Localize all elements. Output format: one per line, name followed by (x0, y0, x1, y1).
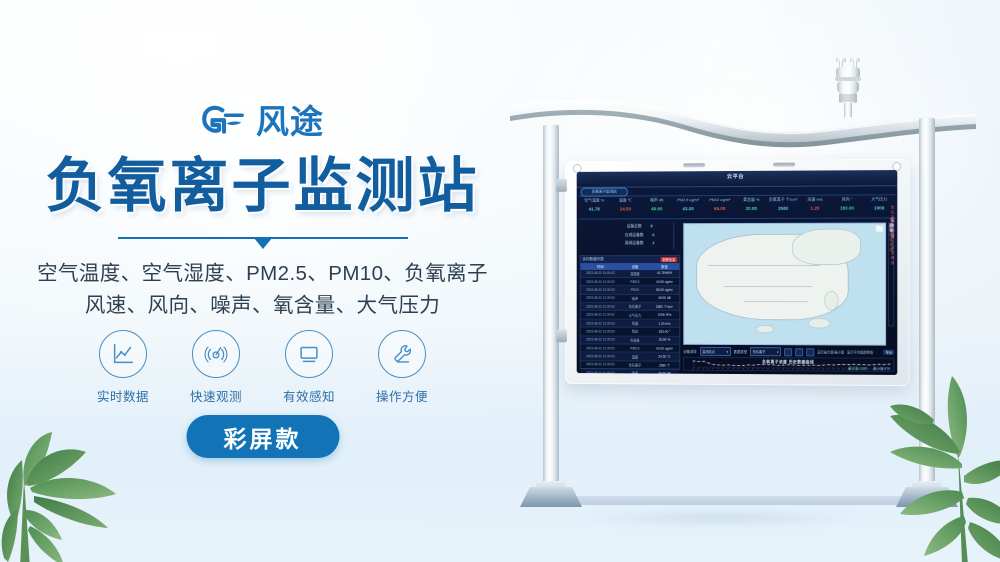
metric-value: 43.00 (672, 204, 703, 213)
stat-row: 离线设备数 2 (606, 239, 673, 248)
metric-name: 风向 ° (831, 195, 863, 203)
subtitle-line-2: 风速、风向、噪声、氧含量、大气压力 (0, 290, 525, 322)
table-header-cell: 时间 (581, 264, 621, 269)
table-cell: 2023-08-21 11:00:02 (581, 346, 621, 350)
alarm-cell: 负氧离子数值低于设定阈值 (891, 204, 894, 265)
stat-value: 8 (651, 222, 653, 230)
metric-name: PM2.5 ug/m³ (672, 196, 703, 204)
metric-card: PM10 ug/m³ 65.00 (704, 196, 736, 218)
base-plate-left (520, 487, 582, 507)
table-cell: 2023-08-21 11:00:02 (581, 280, 621, 284)
alarm-row: 1 负氧离子监测站 负氧离子数值低于设定阈值 (889, 231, 893, 238)
table-row[interactable]: 2023-08-21 11:00:02大气压力1006 hPa (581, 311, 680, 320)
metric-name: 温度 ℃ (610, 196, 641, 204)
metric-name: PM10 ug/m³ (704, 196, 736, 204)
table-cell: 43.00 ug/m³ (650, 346, 680, 350)
table-cell: 2023-08-21 11:00:02 (581, 271, 621, 275)
table-cell: 65.00 ug/m³ (650, 288, 680, 292)
table-cell: 2580 个/cm³ (650, 304, 680, 309)
table-cell: 2023-08-21 11:00:02 (581, 321, 621, 325)
chevron-down-icon: ▾ (726, 349, 728, 353)
stat-label: 设备总数 (627, 222, 642, 230)
realtime-data-table[interactable]: 实时数据列表 报警信息 时间 设备 数值 2023-08-21 11:00:02… (580, 255, 681, 370)
table-cell: 48.60 dB (650, 371, 680, 375)
metric-card: 负氧离子 个/cm³ 2580 (767, 196, 799, 218)
control-label-datatype: 数据类型 (734, 349, 748, 354)
table-cell: 1.20 m/s (650, 321, 680, 325)
hero-subtitle: 空气温度、空气湿度、PM2.5、PM10、负氧离子 风速、风向、噪声、氧含量、大… (0, 258, 525, 322)
table-row[interactable]: 2023-08-21 11:00:02噪声48.60 dB (581, 369, 680, 375)
table-row[interactable]: 2023-08-21 11:00:02温湿度41.78%RH (581, 270, 680, 278)
display-screen[interactable]: 云平台 负氧离子监测站 空气湿度 % 41.78 温度 ℃ 24.50 (577, 170, 898, 375)
table-cell: 20.80 % (650, 338, 680, 342)
table-cell: 2023-08-21 11:00:02 (581, 354, 621, 358)
fengtu-g-logo-icon (201, 104, 247, 138)
brand-logo-text: 风途 (256, 105, 324, 138)
dashboard: 云平台 负氧离子监测站 空气湿度 % 41.78 温度 ℃ 24.50 (577, 170, 898, 375)
wrench-icon (378, 330, 426, 378)
metric-value: 24.50 (610, 204, 641, 213)
device-select[interactable]: 监测站点 ▾ (700, 347, 731, 356)
metric-value: 20.80 (736, 204, 768, 213)
checkbox-average[interactable]: 显示平均值趋势线 (847, 349, 873, 354)
feature-label: 有效感知 (278, 386, 340, 405)
export-button[interactable]: 导出 (883, 349, 894, 355)
stat-label: 离线设备数 (625, 239, 644, 247)
table-header-cell: 设备 (620, 264, 649, 269)
table-cell: 2023-08-21 11:00:02 (581, 313, 621, 317)
table-cell: 风速 (620, 321, 649, 326)
table-cell: 48.60 dB (650, 296, 680, 300)
metric-name: 噪声 dB (641, 196, 672, 204)
metric-name: 大气压力 (863, 195, 895, 203)
chart-control-bar: 设备选择 监测站点 ▾ 数据类型 负氧离子 ▾ 显示最大值 (683, 347, 894, 357)
stat-label: 在线设备数 (625, 231, 644, 239)
table-header-row: 时间 设备 数值 (581, 263, 680, 269)
metric-card: 噪声 dB 48.60 (641, 196, 672, 218)
metric-card: 氧含量 % 20.80 (736, 196, 768, 218)
map-landmass-north (792, 228, 861, 264)
metric-divider-bottom (579, 217, 896, 219)
table-cell: 2580 个 (650, 363, 680, 368)
chart-plot (684, 358, 893, 371)
cta-button[interactable]: 彩屏款 (186, 415, 339, 458)
chevron-down-icon: ▾ (777, 350, 779, 354)
table-caption: 实时数据列表 (583, 257, 604, 262)
chart-tool-button-3[interactable] (806, 348, 814, 356)
table-row[interactable]: 2023-08-21 11:00:02负氧离子2580 个/cm³ (581, 303, 680, 312)
map-border-line-3 (744, 301, 808, 302)
table-cell: 温度 (620, 354, 649, 359)
display-cabinet: 云平台 负氧离子监测站 空气湿度 % 41.78 温度 ℃ 24.50 (565, 159, 910, 386)
metric-name: 氧含量 % (736, 196, 768, 204)
feature-label: 实时数据 (92, 386, 154, 405)
table-body: 2023-08-21 11:00:02温湿度41.78%RH2023-08-21… (581, 270, 680, 375)
hero-text-column: 风途 负氧离子监测站 空气温度、空气湿度、PM2.5、PM10、负氧离子 风速、… (0, 0, 525, 562)
table-row[interactable]: 2023-08-21 11:00:02PM1065.00 ug/m³ (581, 286, 680, 294)
base-crossbar (548, 496, 918, 505)
chart-tool-button-1[interactable] (784, 348, 792, 356)
line-chart-icon (99, 330, 147, 378)
cabinet-hinge-top (556, 179, 567, 192)
metric-name: 风速 m/s (799, 196, 831, 204)
map-border-line-2 (724, 286, 812, 287)
table-cell: 183.00 ° (650, 330, 680, 334)
metric-name: 负氧离子 个/cm³ (767, 196, 799, 204)
cabinet-hinge-bottom (556, 329, 567, 342)
chart-tool-button-2[interactable] (795, 348, 803, 356)
stat-row: 设备总数 8 (606, 222, 673, 231)
metric-name: 空气湿度 % (579, 197, 610, 205)
brand-logo: 风途 (0, 97, 525, 145)
table-cell: 43.00 ug/m³ (650, 280, 680, 284)
feature-list: 实时数据 快速观测 (0, 330, 525, 405)
ultrasonic-weather-sensor-icon (828, 55, 868, 117)
stat-value: 6 (652, 231, 654, 239)
table-cell: PM2.5 (620, 346, 649, 350)
table-cell: 负氧离子 (620, 362, 649, 367)
feature-label: 操作方便 (371, 386, 433, 405)
metric-value: 2580 (767, 204, 799, 213)
table-cell: 温湿度 (620, 271, 649, 276)
table-cell: 41.78%RH (650, 271, 680, 275)
table-cell: 2023-08-21 11:00:02 (581, 338, 621, 342)
cabinet-vent-left (683, 163, 705, 167)
feature-label: 快速观测 (185, 386, 247, 405)
metric-card: 空气湿度 % 41.78 (579, 197, 610, 219)
table-cell: 噪声 (620, 371, 649, 375)
table-cell: 噪声 (620, 296, 649, 301)
table-cell: 1006 hPa (650, 313, 680, 317)
monitor-icon (285, 330, 333, 378)
table-header-cell: 数值 (650, 264, 680, 269)
title-divider (0, 237, 525, 253)
feature-item-easy-operation[interactable]: 操作方便 (371, 330, 433, 405)
feature-item-realtime-data[interactable]: 实时数据 (92, 330, 154, 405)
table-cell: 大气压力 (620, 312, 649, 317)
stat-row: 在线设备数 6 (606, 231, 673, 240)
metric-strip: 空气湿度 % 41.78 温度 ℃ 24.50 噪声 dB 48.60 PM (579, 195, 896, 218)
table-cell: 2023-08-21 11:00:02 (581, 296, 621, 300)
metric-value: 65.00 (704, 204, 736, 213)
history-chart-panel: 负氧离子浓度 历史数据曲线 最大值 3185 最小值 870 (683, 357, 894, 372)
stat-value: 2 (652, 239, 654, 247)
map-zoom-control[interactable] (876, 226, 883, 232)
alarm-list-panel: 序号 设备 报警内容 1 负氧离子监测站 负氧离子数值低于设定阈值 (888, 223, 894, 327)
divider-triangle-icon (254, 238, 272, 249)
poster-canvas: 风途 负氧离子监测站 空气温度、空气湿度、PM2.5、PM10、负氧离子 风速、… (0, 0, 1000, 562)
subtitle-line-1: 空气温度、空气湿度、PM2.5、PM10、负氧离子 (0, 258, 525, 290)
table-cell: 2023-08-21 11:00:02 (581, 371, 621, 375)
metric-card: 温度 ℃ 24.50 (610, 196, 641, 218)
base-plate-right (896, 487, 958, 507)
map-island-3 (756, 325, 774, 333)
metric-card: 风向 ° 183.00 (831, 195, 863, 217)
datatype-select[interactable]: 负氧离子 ▾ (750, 347, 781, 356)
table-cell: 24.50 ℃ (650, 355, 680, 359)
table-cell: 2023-08-21 11:00:02 (581, 304, 621, 308)
table-cell: PM10 (620, 288, 649, 292)
support-post-right (919, 118, 935, 491)
metric-value: 183.00 (831, 203, 863, 212)
monitoring-station-kiosk: 云平台 负氧离子监测站 空气湿度 % 41.78 温度 ℃ 24.50 (500, 0, 1000, 562)
table-cell: 氧含量 (620, 337, 649, 342)
metric-card: 风速 m/s 1.20 (799, 196, 831, 218)
table-cell: 2023-08-21 11:00:02 (581, 363, 621, 367)
alarm-badge[interactable]: 报警信息 (660, 257, 677, 263)
feature-item-fast-observation[interactable]: 快速观测 (185, 330, 247, 405)
metric-value: 41.78 (579, 205, 610, 214)
table-cell: 2023-08-21 11:00:02 (581, 329, 621, 333)
map-border-line-1 (708, 265, 820, 266)
table-caption-bar: 实时数据列表 报警信息 (581, 256, 680, 263)
china-map-panel[interactable] (683, 223, 886, 346)
table-cell: PM2.5 (620, 280, 649, 284)
table-cell: 风向 (620, 329, 649, 334)
cabinet-vent-right (773, 163, 795, 167)
metric-value: 48.60 (641, 204, 672, 213)
metric-value: 1.20 (799, 204, 831, 213)
control-label-device: 设备选择 (683, 349, 696, 354)
datatype-select-value: 负氧离子 (753, 349, 766, 354)
device-select-value: 监测站点 (702, 349, 715, 354)
wave-canopy (508, 96, 978, 158)
metric-card: PM2.5 ug/m³ 43.00 (672, 196, 703, 218)
radar-scan-icon (192, 330, 240, 378)
table-cell: 2023-08-21 11:00:02 (581, 288, 621, 292)
checkbox-minmax[interactable]: 显示最大值/最小值 (817, 349, 844, 354)
table-row[interactable]: 2023-08-21 11:00:02风速1.20 m/s (581, 319, 680, 328)
table-row[interactable]: 2023-08-21 11:00:02噪声48.60 dB (581, 294, 680, 302)
table-row[interactable]: 2023-08-21 11:00:02PM2.543.00 ug/m³ (581, 278, 680, 286)
page-title: 负氧离子监测站 (0, 155, 525, 218)
table-cell: 负氧离子 (620, 304, 649, 309)
device-stats-box: 设备总数 8 在线设备数 6 离线设备数 2 (606, 222, 674, 249)
feature-item-effective-sensing[interactable]: 有效感知 (278, 330, 340, 405)
